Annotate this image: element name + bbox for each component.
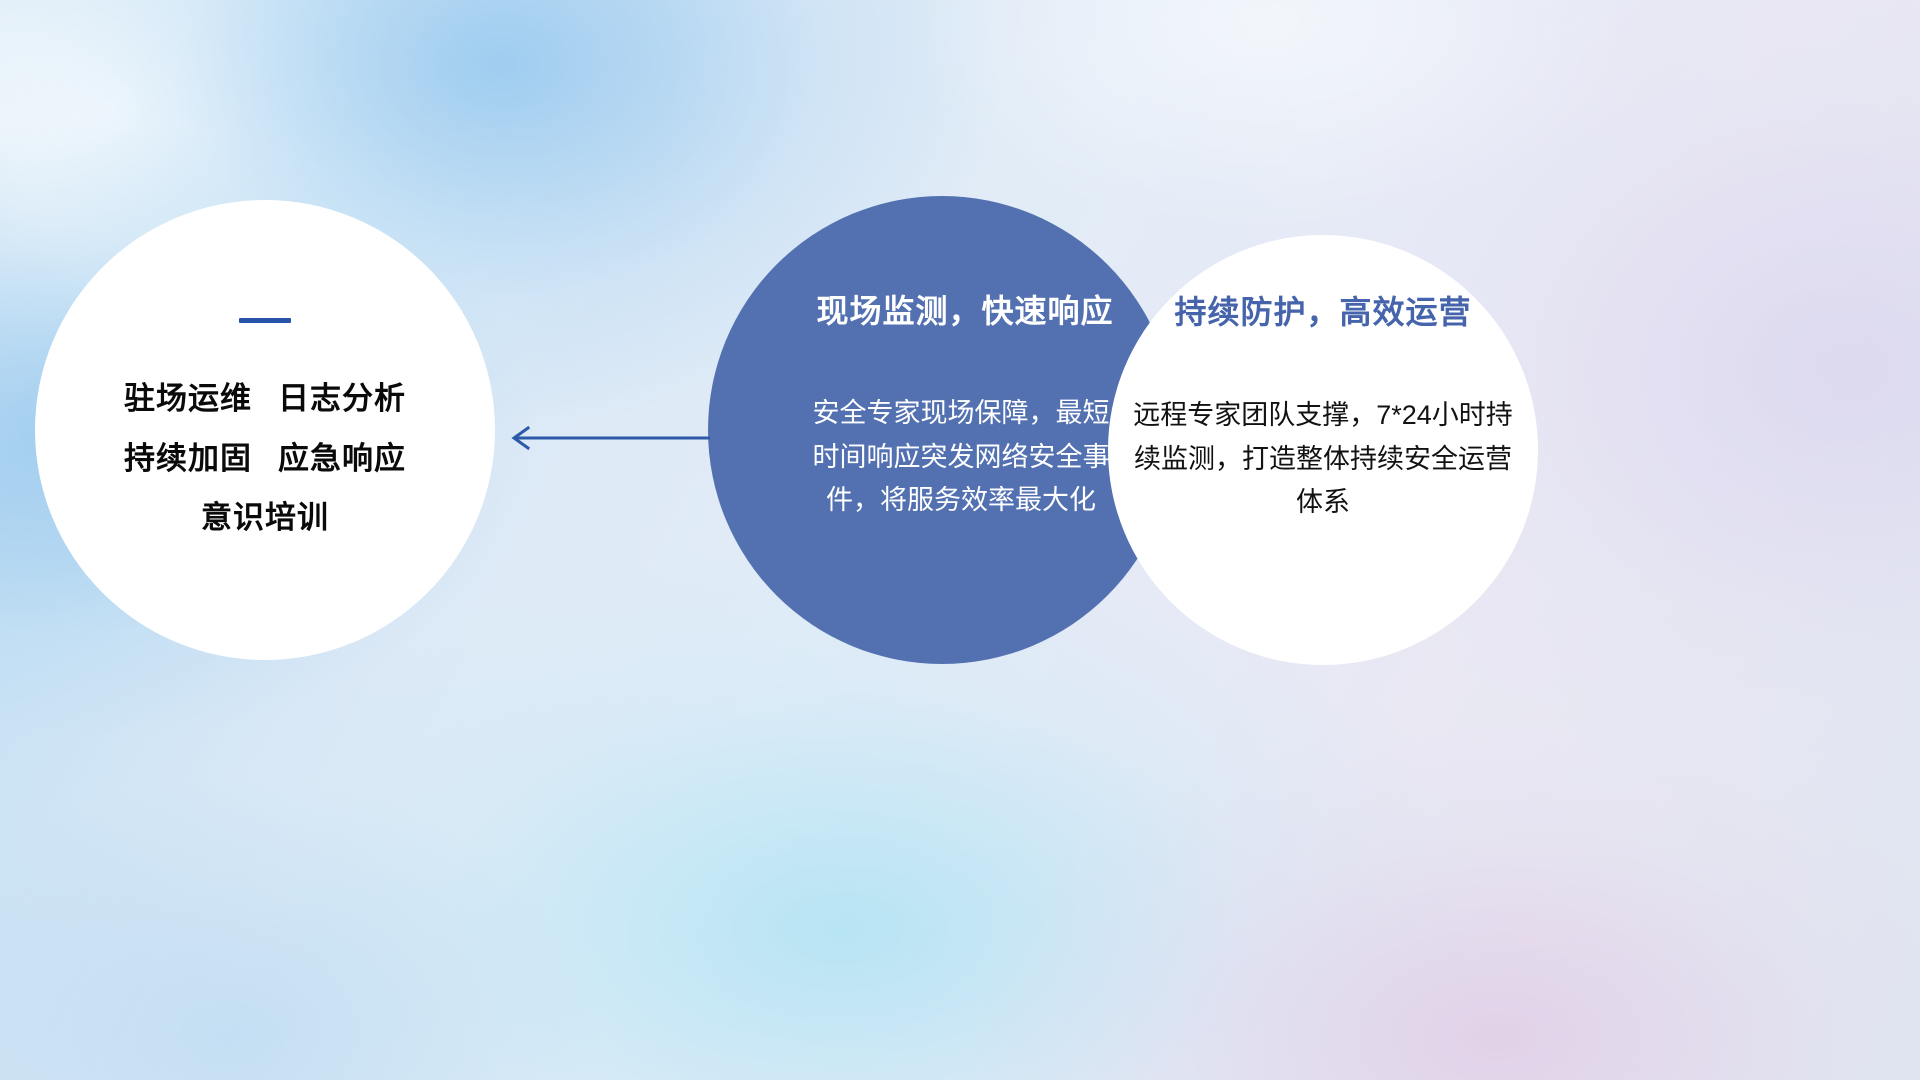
divider-rule [239,318,291,323]
capability-item-2: 日志分析 [278,381,406,416]
capability-item-1: 驻场运维 [124,381,252,416]
capability-row-1: 驻场运维日志分析 [124,381,406,417]
right-circle-shape [1108,235,1538,665]
capability-item-5: 意识培训 [201,500,329,535]
arrow-left-icon [498,424,710,452]
capability-list: 驻场运维日志分析 持续加固应急响应 意识培训 [35,381,495,536]
capability-row-2: 持续加固应急响应 [124,441,406,477]
slide-canvas: 驻场运维日志分析 持续加固应急响应 意识培训 现场监测，快速响应 安全专家现场保… [0,0,1920,1080]
capability-item-4: 应急响应 [278,441,406,476]
left-circle-content: 驻场运维日志分析 持续加固应急响应 意识培训 [35,200,495,660]
capability-item-3: 持续加固 [124,441,252,476]
flow-arrow [498,424,710,452]
middle-circle-shape [708,196,1176,664]
capability-row-3: 意识培训 [201,500,329,536]
